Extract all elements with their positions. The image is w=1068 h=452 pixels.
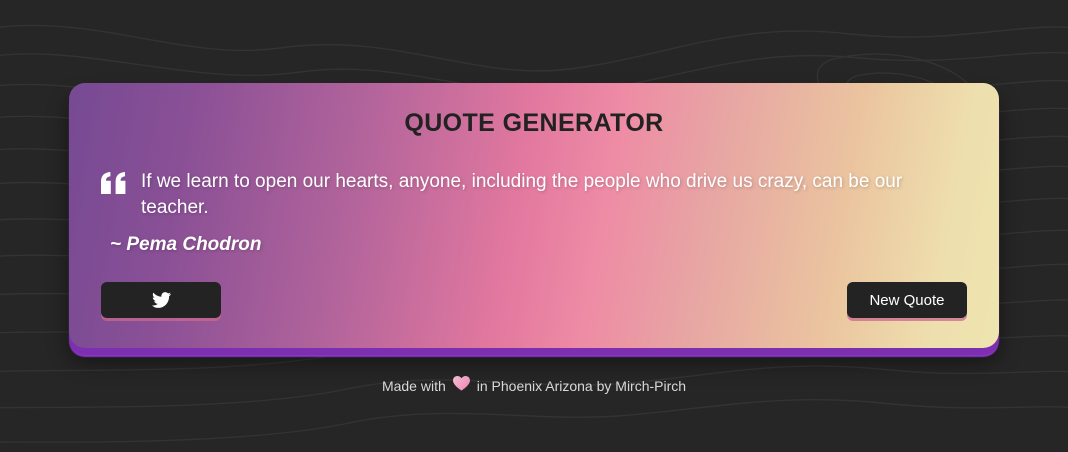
quote-card: QUOTE GENERATOR If we learn to open our … — [69, 83, 999, 348]
card-actions: New Quote — [101, 282, 967, 318]
quote-block: If we learn to open our hearts, anyone, … — [101, 166, 967, 220]
tweet-quote-button[interactable] — [101, 282, 221, 318]
new-quote-button[interactable]: New Quote — [847, 282, 967, 318]
quote-text: If we learn to open our hearts, anyone, … — [141, 166, 967, 220]
footer-suffix: in Phoenix Arizona by Mirch-Pirch — [477, 378, 686, 394]
quote-author: ~ Pema Chodron — [110, 234, 967, 256]
twitter-icon — [152, 292, 171, 308]
page-container: QUOTE GENERATOR If we learn to open our … — [0, 0, 1068, 452]
page-title: QUOTE GENERATOR — [101, 109, 967, 138]
quote-card-wrapper: QUOTE GENERATOR If we learn to open our … — [69, 83, 999, 348]
footer: Made with in Phoenix Arizona by Mirch-Pi… — [382, 376, 686, 395]
quote-mark-icon — [101, 168, 127, 200]
heart-icon — [453, 376, 470, 395]
footer-prefix: Made with — [382, 378, 446, 394]
